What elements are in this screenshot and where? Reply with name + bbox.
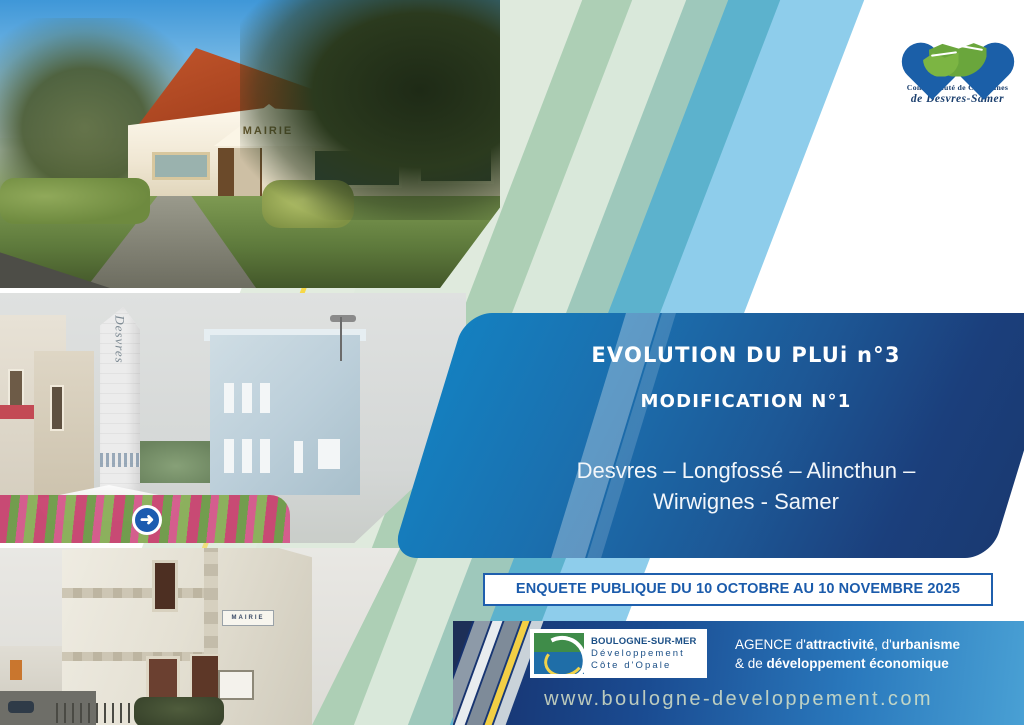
poster-root: MAIRIE — [0, 0, 1024, 725]
boulogne-developpement-logo: BOULOGNE-SUR-MER Développement Côte d'Op… — [530, 629, 707, 678]
enquete-publique-text: ENQUETE PUBLIQUE DU 10 OCTOBRE AU 10 NOV… — [516, 582, 960, 597]
enquete-publique-banner: ENQUETE PUBLIQUE DU 10 OCTOBRE AU 10 NOV… — [483, 573, 993, 606]
photo-mairie-pierre: MAIRIE — [0, 548, 400, 725]
footer-band: BOULOGNE-SUR-MER Développement Côte d'Op… — [453, 621, 1024, 725]
street-lamp-head — [330, 315, 356, 322]
agency-tagline: AGENCE d'attractivité, d'urbanisme & de … — [735, 635, 1020, 673]
logo-text-line-2: de Desvres-Samer — [911, 93, 1004, 106]
stone-belt-upper — [62, 588, 214, 598]
photo-desvres-monument: ➜ — [0, 293, 466, 543]
tree-right-foreground — [240, 0, 500, 220]
logo-line-1: BOULOGNE-SUR-MER — [591, 636, 697, 648]
window-upper — [152, 560, 178, 612]
display-window — [218, 670, 254, 700]
communes-list: Desvres – Longfossé – Alincthun – Wirwig… — [531, 455, 961, 517]
parked-car — [8, 701, 34, 713]
website-url[interactable]: www.boulogne-developpement.com — [453, 689, 1024, 709]
arrow-road-sign: ➜ — [132, 505, 162, 535]
street-lamp-pole — [340, 317, 342, 361]
blue-building — [210, 335, 360, 495]
tower-band — [100, 453, 140, 467]
photo-mairie-rurale: MAIRIE — [0, 0, 500, 288]
title-block-text: EVOLUTION DU PLUi n°3 MODIFICATION N°1 D… — [466, 313, 1024, 558]
mairie-plaque: MAIRIE — [222, 610, 274, 626]
house-second — [34, 351, 94, 497]
awning — [0, 405, 34, 419]
logo-line-3: Côte d'Opale — [591, 660, 697, 672]
photo-collage: MAIRIE — [0, 0, 520, 725]
heart-landscape-icon — [921, 17, 995, 79]
title-line-2: MODIFICATION N°1 — [641, 393, 852, 411]
agency-tagline-line-2: & de développement économique — [735, 654, 1020, 673]
title-line-1: EVOLUTION DU PLUi n°3 — [591, 345, 900, 366]
window-left — [152, 152, 210, 180]
hedge — [0, 178, 150, 224]
logo-line-2: Développement — [591, 648, 697, 660]
shrub — [134, 697, 224, 725]
agency-tagline-line-1: AGENCE d'attractivité, d'urbanisme — [735, 635, 1020, 654]
river-s-mark-icon — [534, 633, 584, 674]
communaute-de-communes-logo: Communauté de Communes de Desvres-Samer — [900, 6, 1015, 114]
